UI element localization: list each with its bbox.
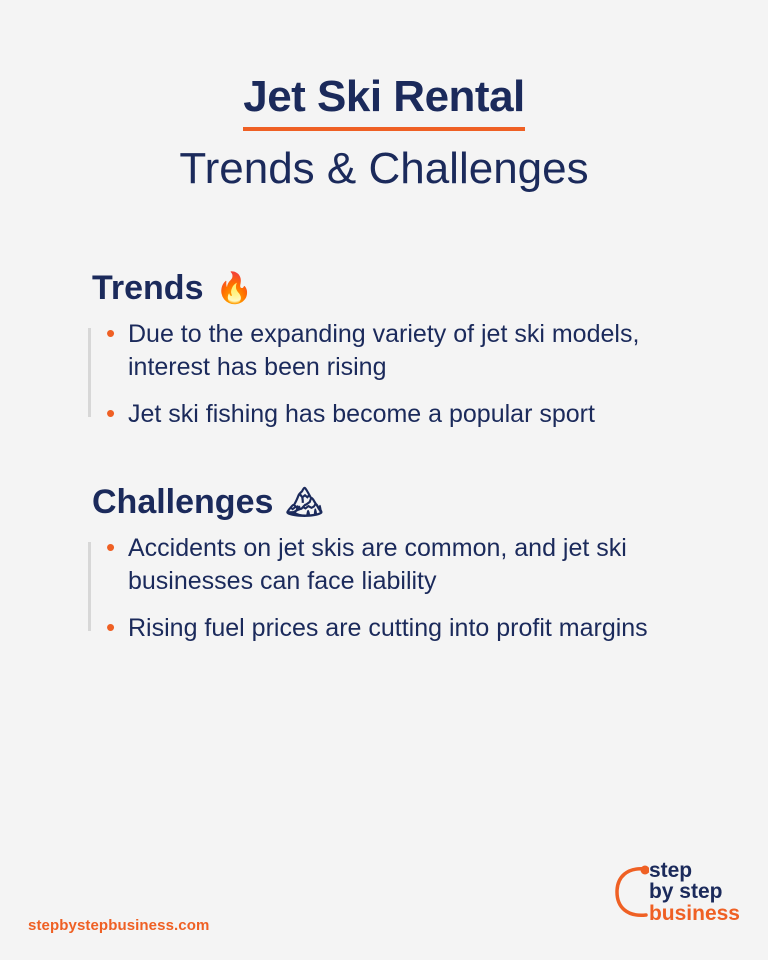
bullet-dot-icon: •: [106, 612, 128, 642]
section-trends-heading: Trends 🔥: [92, 269, 708, 308]
list-item: • Accidents on jet skis are common, and …: [106, 532, 708, 598]
section-trends-title: Trends: [92, 269, 203, 308]
section-challenges-heading: Challenges 🏔: [92, 483, 708, 522]
list-item: • Rising fuel prices are cutting into pr…: [106, 612, 708, 645]
sections-container: Trends 🔥 • Due to the expanding variety …: [0, 269, 768, 645]
logo-line-1: step: [649, 860, 740, 881]
list-item: • Due to the expanding variety of jet sk…: [106, 318, 708, 384]
section-trends-bullets: • Due to the expanding variety of jet sk…: [88, 318, 708, 431]
footer-website-url[interactable]: stepbystepbusiness.com: [28, 917, 209, 934]
list-item: • Jet ski fishing has become a popular s…: [106, 398, 708, 431]
logo-line-3: business: [649, 903, 740, 924]
section-challenges-title: Challenges: [92, 483, 273, 522]
bullet-dot-icon: •: [106, 532, 128, 562]
bullet-dot-icon: •: [106, 398, 128, 428]
logo-swoosh-icon: [615, 861, 649, 923]
page-title: Jet Ski Rental: [243, 72, 525, 131]
bullet-text: Due to the expanding variety of jet ski …: [128, 318, 708, 384]
logo-line-2: by step: [649, 881, 740, 902]
title-block: Jet Ski Rental Trends & Challenges: [0, 0, 768, 195]
bullet-text: Rising fuel prices are cutting into prof…: [128, 612, 648, 645]
bullet-text: Jet ski fishing has become a popular spo…: [128, 398, 595, 431]
section-challenges: Challenges 🏔 • Accidents on jet skis are…: [88, 483, 708, 645]
section-trends: Trends 🔥 • Due to the expanding variety …: [88, 269, 708, 431]
logo-wordmark: step by step business: [649, 860, 740, 924]
section-challenges-bullets: • Accidents on jet skis are common, and …: [88, 532, 708, 645]
page-subtitle: Trends & Challenges: [0, 143, 768, 196]
bullet-text: Accidents on jet skis are common, and je…: [128, 532, 708, 598]
infographic-page: Jet Ski Rental Trends & Challenges Trend…: [0, 0, 768, 960]
fire-emoji: 🔥: [215, 274, 252, 304]
bullet-dot-icon: •: [106, 318, 128, 348]
mountain-emoji: 🏔: [285, 488, 323, 518]
brand-logo[interactable]: step by step business: [615, 860, 740, 924]
